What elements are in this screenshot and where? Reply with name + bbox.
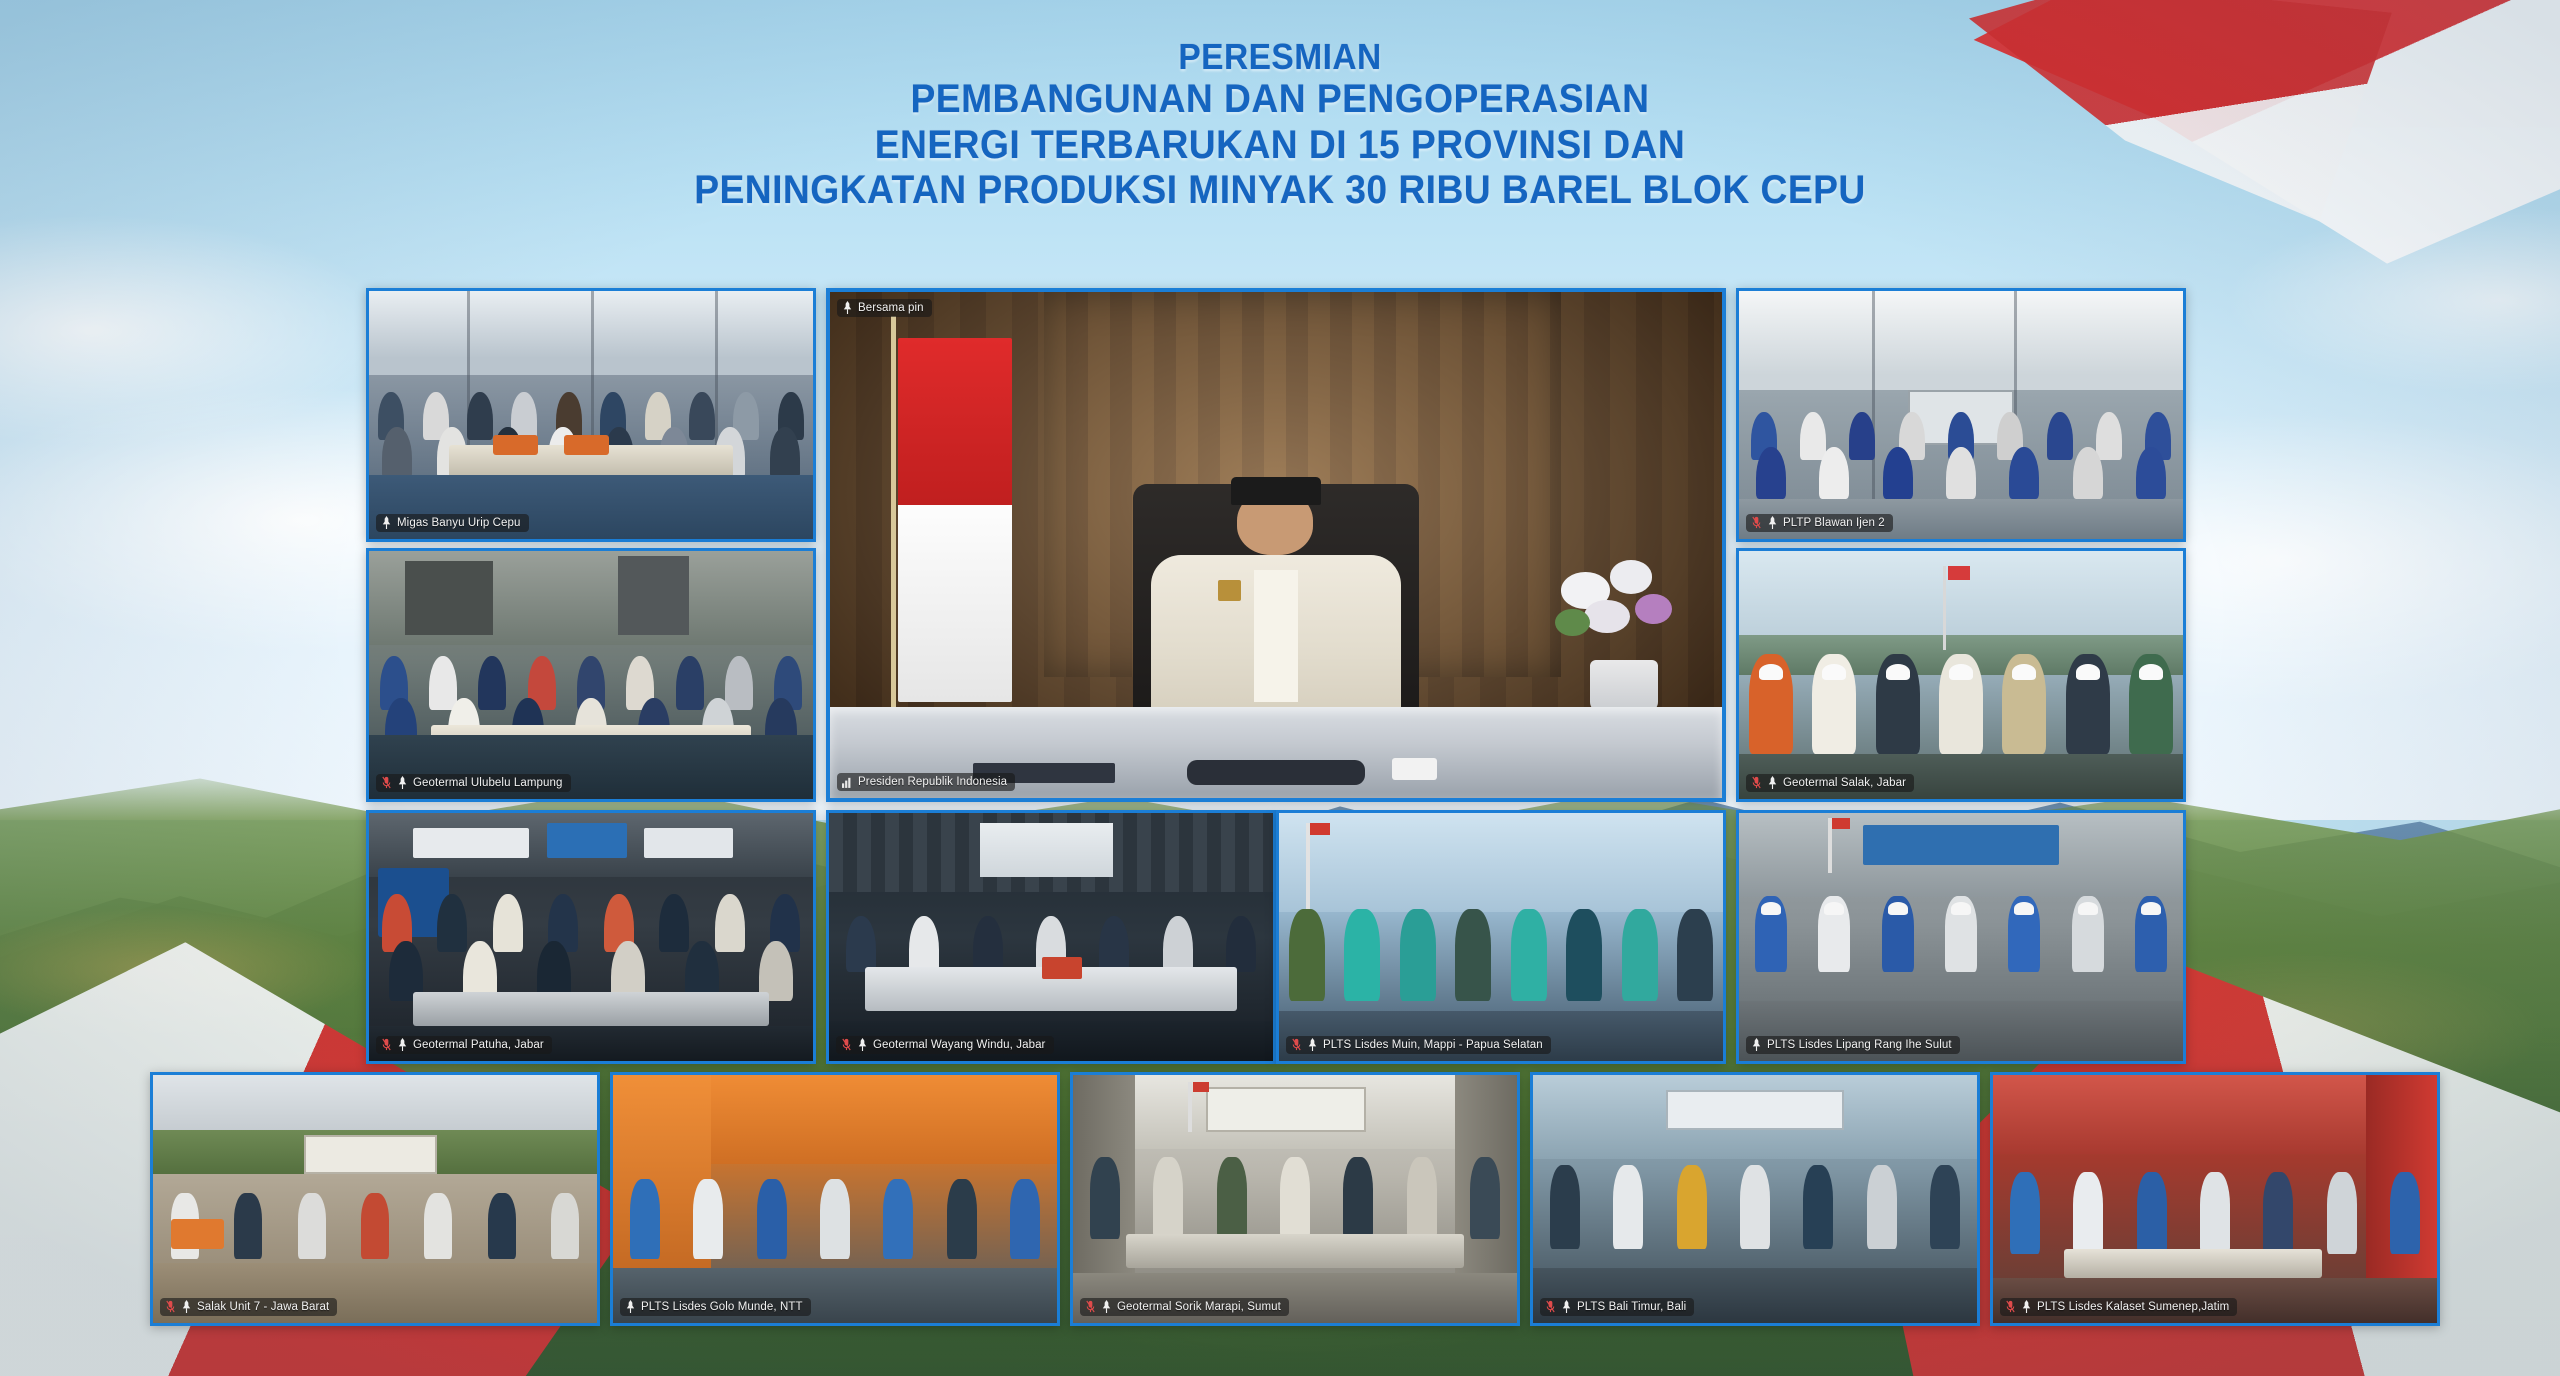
title-line-2: PEMBANGUNAN DAN PENGOPERASIAN <box>90 77 2471 123</box>
event-title: PERESMIAN PEMBANGUNAN DAN PENGOPERASIAN … <box>0 36 2560 214</box>
microphone-muted-icon <box>2005 1300 2016 1313</box>
tile-video-feed <box>1073 1075 1517 1323</box>
pin-icon <box>842 301 853 314</box>
tile-video-feed <box>1739 813 2183 1061</box>
video-tile-geotermal-sorik-marapi-sumut[interactable]: Geotermal Sorik Marapi, Sumut <box>1070 1072 1520 1326</box>
video-tile-geotermal-salak-jabar[interactable]: Geotermal Salak, Jabar <box>1736 548 2186 802</box>
microphone-muted-icon <box>1085 1300 1096 1313</box>
tile-video-feed <box>1739 291 2183 539</box>
tile-video-feed <box>369 291 813 539</box>
tile-video-feed <box>369 813 813 1061</box>
tile-video-feed <box>1533 1075 1977 1323</box>
pin-icon <box>857 1038 868 1051</box>
title-line-3: ENERGI TERBARUKAN DI 15 PROVINSI DAN <box>90 123 2471 169</box>
tile-nameplate: Geotermal Ulubelu Lampung <box>376 774 571 792</box>
tile-participant-name: Salak Unit 7 - Jawa Barat <box>197 1301 329 1313</box>
tile-participant-name: Geotermal Salak, Jabar <box>1783 777 1906 789</box>
microphone-muted-icon <box>1545 1300 1556 1313</box>
tile-nameplate: PLTS Lisdes Kalaset Sumenep,Jatim <box>2000 1298 2237 1316</box>
tile-nameplate: PLTS Lisdes Lipang Rang Ihe Sulut <box>1746 1036 1960 1054</box>
tile-video-feed <box>613 1075 1057 1323</box>
tile-participant-name: PLTS Lisdes Muin, Mappi - Papua Selatan <box>1323 1039 1543 1051</box>
tile-participant-name: Geotermal Patuha, Jabar <box>413 1039 544 1051</box>
video-tile-plts-lisdes-lipang-sulut[interactable]: PLTS Lisdes Lipang Rang Ihe Sulut <box>1736 810 2186 1064</box>
microphone-muted-icon <box>381 776 392 789</box>
pin-icon <box>1751 1038 1762 1051</box>
pin-icon <box>1767 516 1778 529</box>
tile-video-feed <box>369 551 813 799</box>
video-tile-presiden-republik-indonesia[interactable]: Bersama pin Presiden Republik Indonesia <box>826 288 1726 802</box>
tile-nameplate: Geotermal Salak, Jabar <box>1746 774 1914 792</box>
microphone-muted-icon <box>381 1038 392 1051</box>
video-tile-geotermal-patuha-jabar[interactable]: Geotermal Patuha, Jabar <box>366 810 816 1064</box>
presentation-stage: PERESMIAN PEMBANGUNAN DAN PENGOPERASIAN … <box>0 0 2560 1376</box>
video-tile-geotermal-wayang-windu-jabar[interactable]: Geotermal Wayang Windu, Jabar <box>826 810 1276 1064</box>
tile-video-feed <box>1739 551 2183 799</box>
tile-video-feed <box>830 292 1722 798</box>
microphone-muted-icon <box>841 1038 852 1051</box>
title-line-4: PENINGKATAN PRODUKSI MINYAK 30 RIBU BARE… <box>90 168 2471 214</box>
tile-participant-name: Geotermal Ulubelu Lampung <box>413 777 563 789</box>
video-tile-plts-lisdes-golo-munde-ntt[interactable]: PLTS Lisdes Golo Munde, NTT <box>610 1072 1060 1326</box>
pin-icon <box>1767 776 1778 789</box>
video-tile-migas-banyu-urip-cepu[interactable]: Migas Banyu Urip Cepu <box>366 288 816 542</box>
tile-nameplate: Geotermal Sorik Marapi, Sumut <box>1080 1298 1289 1316</box>
tile-nameplate: Presiden Republik Indonesia <box>837 773 1015 791</box>
tile-participant-name: PLTS Lisdes Kalaset Sumenep,Jatim <box>2037 1301 2229 1313</box>
pin-icon <box>1101 1300 1112 1313</box>
tile-pin-label: Bersama pin <box>858 302 924 314</box>
tile-participant-name: PLTS Lisdes Lipang Rang Ihe Sulut <box>1767 1039 1952 1051</box>
video-tile-plts-lisdes-kalaset-sumenep[interactable]: PLTS Lisdes Kalaset Sumenep,Jatim <box>1990 1072 2440 1326</box>
pin-icon <box>1307 1038 1318 1051</box>
tile-participant-name: Geotermal Wayang Windu, Jabar <box>873 1039 1046 1051</box>
pin-icon <box>2021 1300 2032 1313</box>
pin-icon <box>397 1038 408 1051</box>
tile-participant-name: Migas Banyu Urip Cepu <box>397 517 521 529</box>
tile-nameplate-top: Bersama pin <box>837 299 932 317</box>
tile-nameplate: PLTS Lisdes Muin, Mappi - Papua Selatan <box>1286 1036 1551 1054</box>
tile-nameplate: PLTS Lisdes Golo Munde, NTT <box>620 1298 811 1316</box>
tile-participant-name: PLTS Bali Timur, Bali <box>1577 1301 1686 1313</box>
tile-nameplate: Geotermal Wayang Windu, Jabar <box>836 1036 1054 1054</box>
flower-arrangement <box>1553 560 1696 712</box>
tile-nameplate: Salak Unit 7 - Jawa Barat <box>160 1298 337 1316</box>
tile-nameplate: PLTS Bali Timur, Bali <box>1540 1298 1694 1316</box>
tile-participant-name: Geotermal Sorik Marapi, Sumut <box>1117 1301 1281 1313</box>
tile-video-feed <box>1993 1075 2437 1323</box>
microphone-muted-icon <box>1751 516 1762 529</box>
tile-video-feed <box>153 1075 597 1323</box>
tile-participant-name: Presiden Republik Indonesia <box>858 776 1007 788</box>
indonesian-flag <box>866 338 1044 702</box>
microphone-muted-icon <box>1751 776 1762 789</box>
video-tile-plts-lisdes-muin-mappi[interactable]: PLTS Lisdes Muin, Mappi - Papua Selatan <box>1276 810 1726 1064</box>
video-tile-geotermal-ulubelu-lampung[interactable]: Geotermal Ulubelu Lampung <box>366 548 816 802</box>
tile-participant-name: PLTS Lisdes Golo Munde, NTT <box>641 1301 803 1313</box>
peci-cap <box>1231 477 1320 505</box>
pin-icon <box>181 1300 192 1313</box>
title-line-1: PERESMIAN <box>90 36 2471 77</box>
tile-video-feed <box>1279 813 1723 1061</box>
tile-video-feed <box>829 813 1273 1061</box>
pin-icon <box>1561 1300 1572 1313</box>
microphone-muted-icon <box>165 1300 176 1313</box>
video-tile-salak-unit-7-jawa-barat[interactable]: Salak Unit 7 - Jawa Barat <box>150 1072 600 1326</box>
tile-nameplate: Geotermal Patuha, Jabar <box>376 1036 552 1054</box>
video-tile-pltp-blawan-ijen-2[interactable]: PLTP Blawan Ijen 2 <box>1736 288 2186 542</box>
tile-nameplate: Migas Banyu Urip Cepu <box>376 514 529 532</box>
tile-participant-name: PLTP Blawan Ijen 2 <box>1783 517 1885 529</box>
video-tile-plts-bali-timur-bali[interactable]: PLTS Bali Timur, Bali <box>1530 1072 1980 1326</box>
pin-icon <box>397 776 408 789</box>
pin-icon <box>625 1300 636 1313</box>
tile-nameplate: PLTP Blawan Ijen 2 <box>1746 514 1893 532</box>
microphone-muted-icon <box>1291 1038 1302 1051</box>
signal-bars-icon <box>842 775 853 788</box>
pin-icon <box>381 516 392 529</box>
